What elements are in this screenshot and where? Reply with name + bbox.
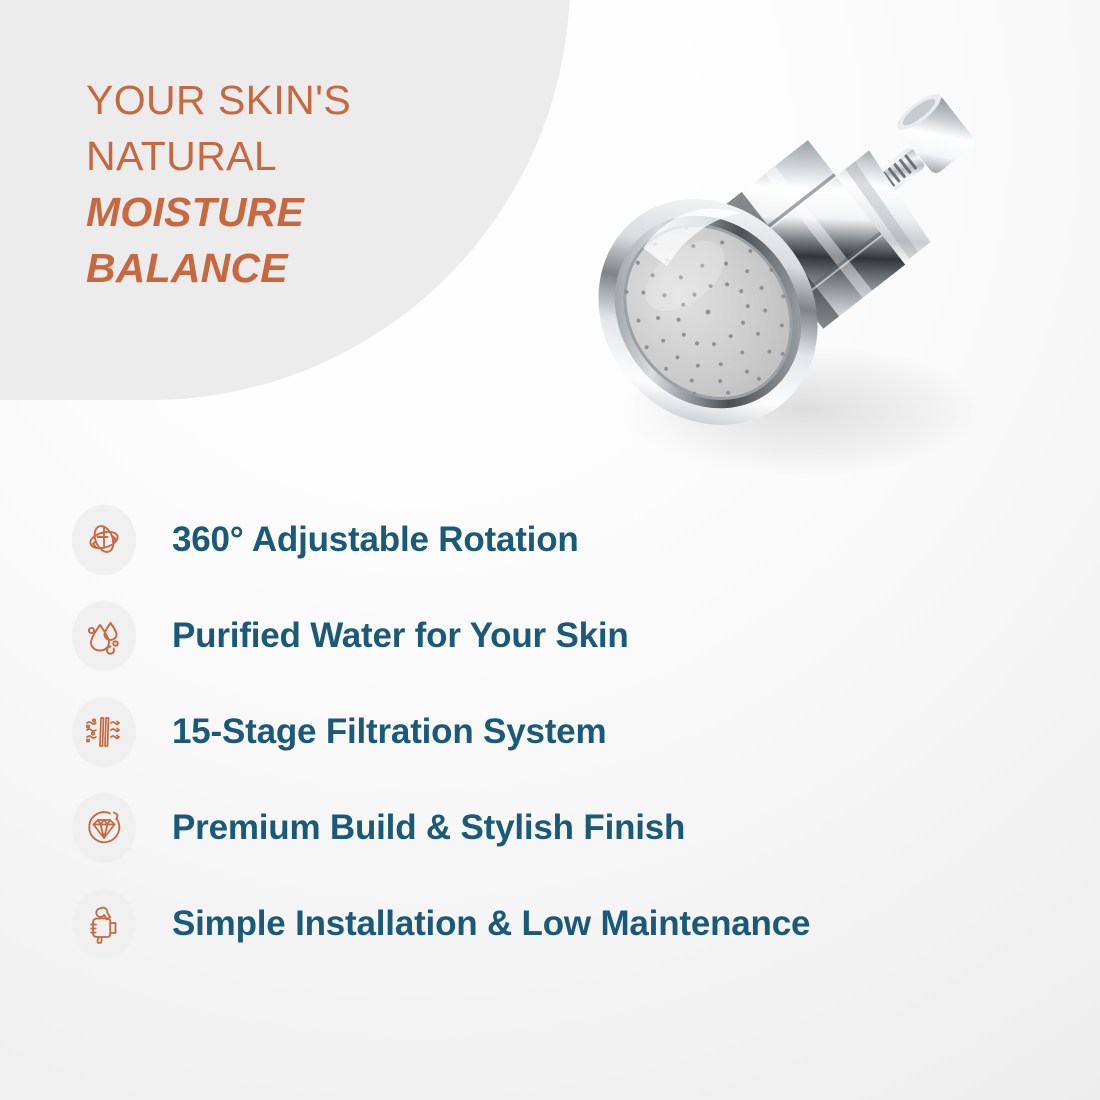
headline-line-1: YOUR SKIN'S xyxy=(86,72,526,128)
headline-line-2: NATURAL xyxy=(86,128,526,184)
feature-row[interactable]: 360° Adjustable Rotation xyxy=(72,492,1032,588)
filtration-icon xyxy=(83,711,125,753)
headline-line-4: BALANCE xyxy=(86,240,526,296)
feature-list: 360° Adjustable Rotation Purified Water … xyxy=(72,492,1032,972)
feature-icon-badge xyxy=(72,601,136,671)
feature-row[interactable]: Purified Water for Your Skin xyxy=(72,588,1032,684)
feature-row[interactable]: 15-Stage Filtration System xyxy=(72,684,1032,780)
feature-icon-badge xyxy=(72,697,136,767)
feature-row[interactable]: Premium Build & Stylish Finish xyxy=(72,780,1032,876)
feature-icon-badge xyxy=(72,505,136,575)
headline-line-3: MOISTURE xyxy=(86,184,526,240)
diamond-quality-icon xyxy=(83,807,125,849)
rotation-360-icon xyxy=(83,519,125,561)
feature-label: Premium Build & Stylish Finish xyxy=(172,808,685,848)
feature-label: 15-Stage Filtration System xyxy=(172,712,606,752)
feature-label: 360° Adjustable Rotation xyxy=(172,520,579,560)
headline-block: YOUR SKIN'S NATURAL MOISTURE BALANCE xyxy=(86,72,526,296)
hand-wrench-icon xyxy=(83,903,125,945)
product-feature-poster: YOUR SKIN'S NATURAL MOISTURE BALANCE xyxy=(0,0,1100,1100)
feature-label: Simple Installation & Low Maintenance xyxy=(172,904,810,944)
feature-row[interactable]: Simple Installation & Low Maintenance xyxy=(72,876,1032,972)
water-drop-icon xyxy=(83,615,125,657)
feature-icon-badge xyxy=(72,889,136,959)
feature-icon-badge xyxy=(72,793,136,863)
product-image xyxy=(585,80,1065,500)
feature-label: Purified Water for Your Skin xyxy=(172,616,629,656)
